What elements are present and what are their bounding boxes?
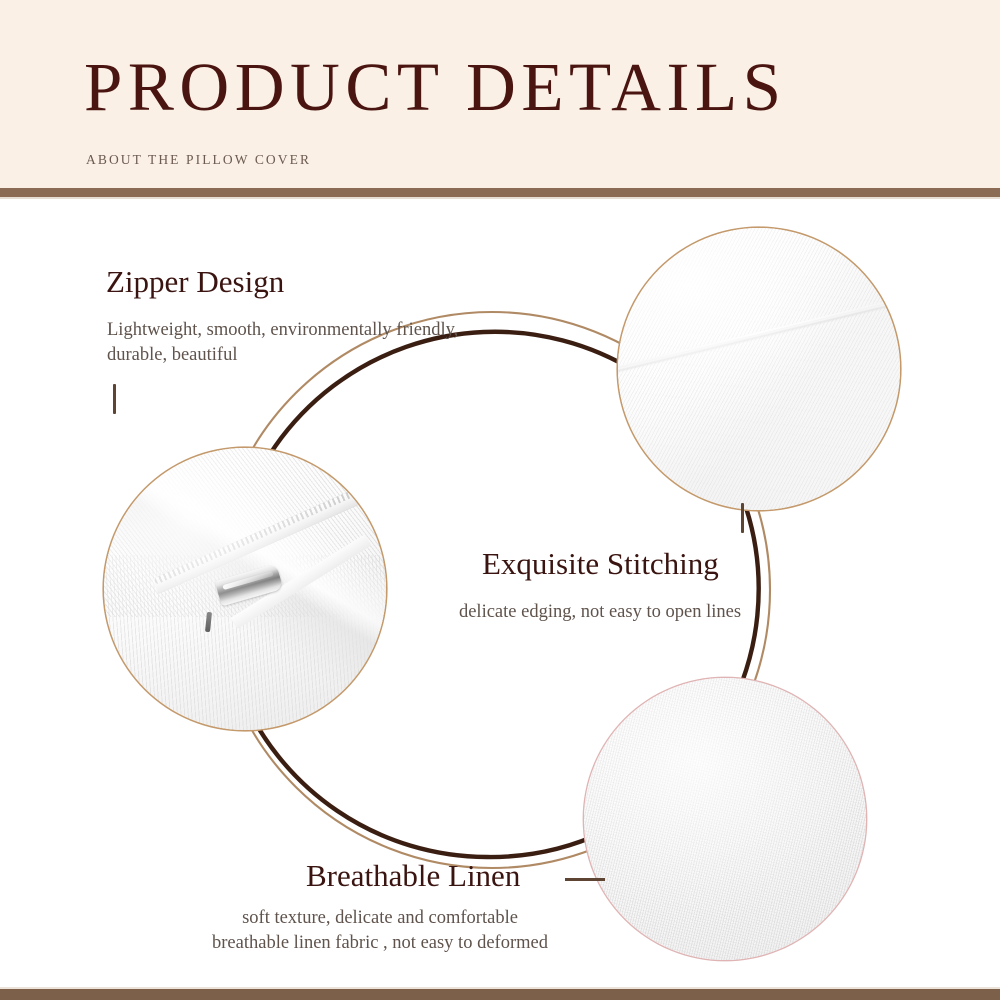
linen-body-line-1: soft texture, delicate and comfortable — [170, 906, 590, 931]
zipper-photo — [104, 448, 386, 730]
product-details-page: PRODUCT DETAILS ABOUT THE PILLOW COVER — [0, 0, 1000, 1000]
linen-connector-dash — [565, 878, 605, 881]
zipper-feature-heading: Zipper Design — [106, 264, 284, 300]
page-subtitle: ABOUT THE PILLOW COVER — [86, 152, 311, 168]
stitching-feature-body: delicate edging, not easy to open lines — [420, 600, 780, 625]
stitching-photo — [618, 228, 900, 510]
linen-photo — [584, 678, 866, 960]
linen-shading — [584, 678, 866, 960]
linen-feature-heading: Breathable Linen — [306, 858, 520, 894]
zipper-accent-tick — [113, 384, 116, 414]
zipper-feature-body: Lightweight, smooth, environmentally fri… — [107, 318, 507, 368]
stitching-feature-heading: Exquisite Stitching — [482, 546, 719, 582]
zipper-shading — [104, 448, 386, 730]
stitching-accent-tick — [741, 503, 744, 533]
stitching-shading — [618, 228, 900, 510]
page-title: PRODUCT DETAILS — [84, 48, 787, 126]
linen-body-line-2: breathable linen fabric , not easy to de… — [170, 931, 590, 956]
linen-feature-body: soft texture, delicate and comfortable b… — [170, 906, 590, 956]
bottom-frame-bar — [0, 989, 1000, 1000]
